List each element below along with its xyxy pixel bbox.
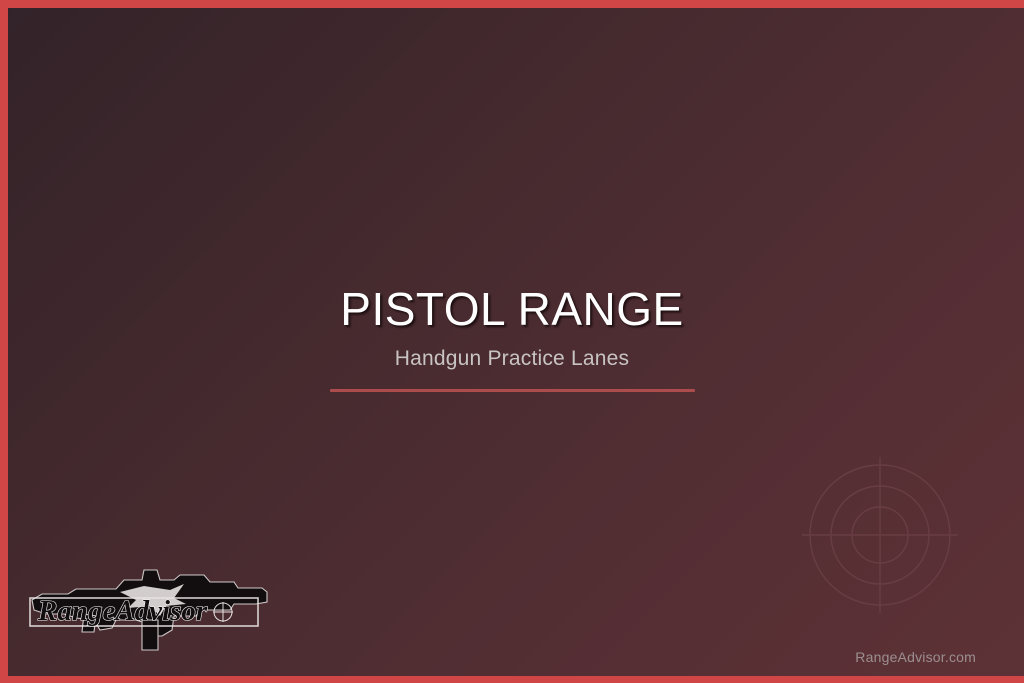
- site-credit: RangeAdvisor.com: [855, 649, 976, 665]
- slide-border-top: [0, 0, 1024, 8]
- presentation-slide: PISTOL RANGE Handgun Practice Lanes Rang…: [0, 0, 1024, 683]
- page-title: PISTOL RANGE: [0, 286, 1024, 332]
- slide-border-left: [0, 0, 8, 683]
- page-subtitle: Handgun Practice Lanes: [0, 348, 1024, 369]
- title-divider: [330, 389, 695, 392]
- logo-wordmark: RangeAdvisor: [37, 595, 208, 627]
- brand-logo: RangeAdvisor: [24, 558, 276, 658]
- target-crosshair-icon: [800, 455, 960, 615]
- title-block: PISTOL RANGE Handgun Practice Lanes: [0, 286, 1024, 392]
- slide-border-bottom: [0, 676, 1024, 683]
